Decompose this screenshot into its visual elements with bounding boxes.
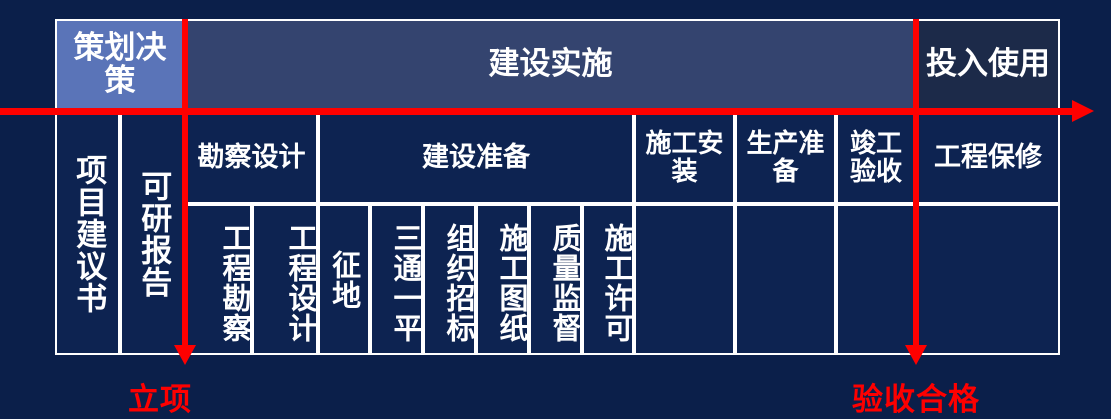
diagram-canvas: 百度文库 www.sodocs.cn 策划决策 建设实施 投入使用 项目建议书 … — [0, 0, 1111, 415]
sub-label-engineering-design: 工程设计 — [285, 223, 316, 343]
stage-label-survey-design: 勘察设计 — [198, 143, 306, 172]
stage-cell-project-proposal: 项目建议书 — [55, 112, 120, 355]
stage-cell-completion-acceptance: 竣工验收 — [836, 112, 916, 204]
sub-cell-three-connections-one-leveling: 三通一平 — [370, 204, 423, 355]
stage-label-project-proposal: 项目建议书 — [71, 154, 104, 314]
stage-cell-construction-preparation: 建设准备 — [318, 112, 634, 204]
timeline-arrow-head-icon — [1072, 100, 1094, 122]
sub-label-organize-bidding: 组织招标 — [443, 223, 474, 343]
sub-cell-engineering-design: 工程设计 — [252, 204, 318, 355]
stage-cell-feasibility-report: 可研报告 — [120, 112, 185, 355]
sub-label-construction-drawings: 施工图纸 — [496, 223, 527, 343]
sub-label-three-connections-one-leveling: 三通一平 — [390, 223, 421, 343]
phase-cell-construction-implementation: 建设实施 — [185, 19, 916, 111]
stage-label-feasibility-report: 可研报告 — [136, 170, 169, 298]
sub-cell-completion-acceptance-empty — [836, 204, 916, 355]
sub-label-construction-permit: 施工许可 — [601, 223, 632, 343]
phase-label-planning-decision: 策划决策 — [61, 32, 179, 99]
stage-cell-project-warranty: 工程保修 — [916, 112, 1060, 204]
marker-label-acceptance-passed: 验收合格 — [852, 374, 980, 419]
sub-cell-quality-supervision: 质量监督 — [529, 204, 582, 355]
sub-cell-organize-bidding: 组织招标 — [423, 204, 476, 355]
sub-cell-construction-permit: 施工许可 — [582, 204, 634, 355]
phase-cell-planning-decision: 策划决策 — [55, 19, 185, 111]
marker-label-project-approval: 立项 — [128, 374, 192, 419]
marker-line-project-approval — [182, 19, 188, 352]
stage-label-construction-installation: 施工安装 — [637, 130, 732, 186]
stage-cell-production-preparation: 生产准备 — [735, 112, 836, 204]
marker-line-acceptance-passed — [913, 19, 919, 352]
phase-label-construction-implementation: 建设实施 — [489, 48, 613, 81]
marker-arrow-head-project-approval-icon — [174, 345, 196, 365]
stage-cell-survey-design: 勘察设计 — [185, 112, 318, 204]
sub-cell-land-acquisition: 征地 — [318, 204, 370, 355]
phase-label-put-into-use: 投入使用 — [926, 48, 1050, 81]
stage-label-production-preparation: 生产准备 — [738, 130, 833, 186]
stage-label-construction-preparation: 建设准备 — [422, 143, 530, 172]
stage-cell-construction-installation: 施工安装 — [634, 112, 735, 204]
sub-cell-construction-installation-empty — [634, 204, 735, 355]
stage-label-completion-acceptance: 竣工验收 — [839, 130, 913, 186]
sub-label-quality-supervision: 质量监督 — [549, 223, 580, 343]
sub-cell-production-preparation-empty — [735, 204, 836, 355]
marker-arrow-head-acceptance-passed-icon — [905, 345, 927, 365]
sub-label-engineering-survey: 工程勘察 — [219, 223, 250, 343]
phase-cell-put-into-use: 投入使用 — [916, 19, 1060, 111]
sub-cell-construction-drawings: 施工图纸 — [476, 204, 529, 355]
sub-cell-project-warranty-empty — [916, 204, 1060, 355]
stage-label-project-warranty: 工程保修 — [934, 143, 1042, 172]
sub-cell-engineering-survey: 工程勘察 — [185, 204, 252, 355]
sub-label-land-acquisition: 征地 — [328, 250, 359, 310]
